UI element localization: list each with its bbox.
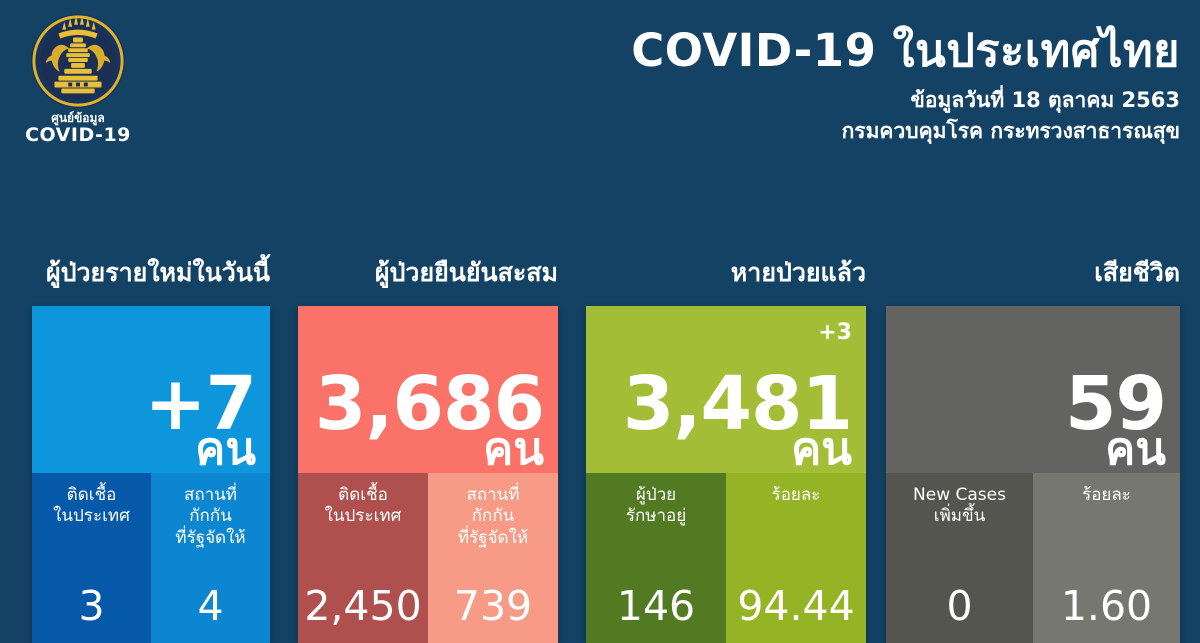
- sub-stat-recovered-percent: ร้อยละ 94.44: [726, 473, 866, 643]
- card-body-total-confirmed: 3,686 คน ติดเชื้อ ในประเทศ 2,450 สถานที่…: [298, 306, 558, 643]
- card-body-recovered: +3 3,481 คน ผู้ป่วย รักษาอยู่ 146 ร้อยละ…: [586, 306, 866, 643]
- sub-value: 94.44: [726, 586, 866, 627]
- sub-value: 0: [886, 586, 1033, 627]
- card-title-total-confirmed: ผู้ป่วยยืนยันสะสม: [375, 258, 558, 288]
- card-body-deaths: 59 คน New Cases เพิ่มขึ้น 0 ร้อยละ 1.60: [886, 306, 1180, 643]
- card-title-deaths: เสียชีวิต: [1094, 258, 1180, 288]
- sub-label: ติดเชื้อ ในประเทศ: [32, 485, 151, 528]
- headline-panel-new-cases: +7 คน: [32, 306, 270, 473]
- sub-value: 3: [32, 586, 151, 627]
- data-date-line: ข้อมูลวันที่ 18 ตุลาคม 2563: [631, 88, 1180, 113]
- page-header: ศูนย์ข้อมูล COVID-19 COVID-19 ในประเทศไท…: [0, 0, 1200, 205]
- card-body-new-cases: +7 คน ติดเชื้อ ในประเทศ 3 สถานที่ กักกัน…: [32, 306, 270, 643]
- sub-stat-domestic-total: ติดเชื้อ ในประเทศ 2,450: [298, 473, 428, 643]
- sub-stat-new-deaths: New Cases เพิ่มขึ้น 0: [886, 473, 1033, 643]
- headline-panel-deaths: 59 คน: [886, 306, 1180, 473]
- header-text-block: COVID-19 ในประเทศไทย ข้อมูลวันที่ 18 ตุล…: [631, 26, 1180, 144]
- sub-stats-recovered: ผู้ป่วย รักษาอยู่ 146 ร้อยละ 94.44: [586, 473, 866, 643]
- sub-stats-deaths: New Cases เพิ่มขึ้น 0 ร้อยละ 1.60: [886, 473, 1180, 643]
- sub-stat-deaths-percent: ร้อยละ 1.60: [1033, 473, 1180, 643]
- brand-title: COVID-19: [18, 125, 138, 147]
- sub-stat-quarantine-total: สถานที่ กักกัน ที่รัฐจัดให้ 739: [428, 473, 558, 643]
- sub-label: ติดเชื้อ ในประเทศ: [298, 485, 428, 528]
- card-title-new-cases: ผู้ป่วยรายใหม่ในวันนี้: [46, 258, 270, 288]
- sub-stat-quarantine-new: สถานที่ กักกัน ที่รัฐจัดให้ 4: [151, 473, 270, 643]
- sub-label: ร้อยละ: [1033, 485, 1180, 506]
- sub-label: New Cases เพิ่มขึ้น: [886, 485, 1033, 528]
- sub-value: 4: [151, 586, 270, 627]
- page-title: COVID-19 ในประเทศไทย: [631, 26, 1180, 76]
- sub-value: 2,450: [298, 586, 428, 627]
- sub-stat-under-treatment: ผู้ป่วย รักษาอยู่ 146: [586, 473, 726, 643]
- delta-badge-recovered: +3: [818, 320, 852, 345]
- sub-label: ผู้ป่วย รักษาอยู่: [586, 485, 726, 528]
- sub-label: ร้อยละ: [726, 485, 866, 506]
- stat-cards-row: ผู้ป่วยรายใหม่ในวันนี้ +7 คน ติดเชื้อ ใน…: [0, 210, 1200, 600]
- headline-panel-recovered: +3 3,481 คน: [586, 306, 866, 473]
- sub-value: 739: [428, 586, 558, 627]
- sub-stat-domestic-new: ติดเชื้อ ในประเทศ 3: [32, 473, 151, 643]
- sub-value: 1.60: [1033, 586, 1180, 627]
- card-title-recovered: หายป่วยแล้ว: [731, 258, 866, 288]
- organization-line: กรมควบคุมโรค กระทรวงสาธารณสุข: [631, 119, 1180, 144]
- headline-panel-total-confirmed: 3,686 คน: [298, 306, 558, 473]
- sub-label: สถานที่ กักกัน ที่รัฐจัดให้: [428, 485, 558, 549]
- thai-government-seal-icon: [29, 12, 127, 110]
- sub-value: 146: [586, 586, 726, 627]
- sub-label: สถานที่ กักกัน ที่รัฐจัดให้: [151, 485, 270, 549]
- sub-stats-new-cases: ติดเชื้อ ในประเทศ 3 สถานที่ กักกัน ที่รั…: [32, 473, 270, 643]
- sub-stats-total-confirmed: ติดเชื้อ ในประเทศ 2,450 สถานที่ กักกัน ท…: [298, 473, 558, 643]
- brand-block: ศูนย์ข้อมูล COVID-19: [18, 12, 138, 147]
